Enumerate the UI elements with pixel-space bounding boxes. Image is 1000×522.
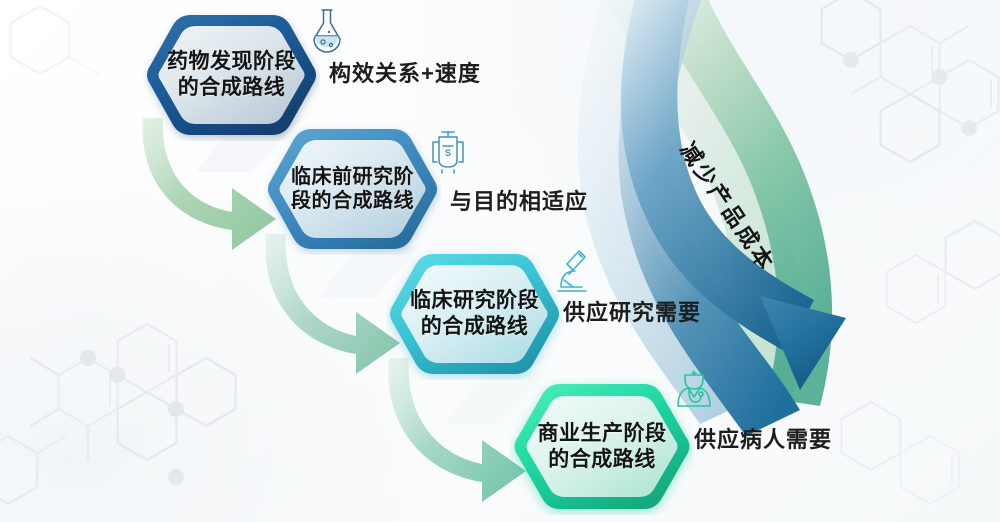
stage-caption-1: 构效关系+速度 bbox=[329, 56, 481, 88]
flask-icon bbox=[305, 6, 349, 56]
doctor-icon bbox=[670, 366, 718, 418]
svg-text:S: S bbox=[445, 148, 451, 158]
stage-caption-4: 供应病人需要 bbox=[694, 422, 832, 454]
stage-node-2[interactable]: 临床前研究阶 段的合成路线 bbox=[264, 123, 441, 255]
stage-caption-2: 与目的相适应 bbox=[450, 184, 588, 216]
stage-node-3[interactable]: 临床研究阶段 的合成路线 bbox=[386, 248, 563, 380]
stage-label-2: 临床前研究阶 段的合成路线 bbox=[291, 165, 414, 214]
ribbon-green-back bbox=[598, 0, 800, 400]
reactor-vessel-icon: S bbox=[426, 126, 470, 176]
microscope-icon bbox=[549, 247, 595, 297]
connector-arrow-2 bbox=[265, 234, 400, 374]
cost-reduction-label: 减少产品成本 bbox=[673, 135, 783, 277]
stage-caption-3: 供应研究需要 bbox=[563, 295, 701, 327]
infographic-canvas: 药物发现阶段 的合成路线 临床前研 bbox=[0, 0, 1000, 522]
stage-node-1[interactable]: 药物发现阶段 的合成路线 bbox=[143, 9, 320, 141]
stage-label-4: 商业生产阶段 的合成路线 bbox=[538, 421, 667, 472]
stage-label-3: 临床研究阶段 的合成路线 bbox=[410, 288, 539, 339]
stage-label-1: 药物发现阶段 的合成路线 bbox=[167, 49, 296, 100]
stage-node-4[interactable]: 商业生产阶段 的合成路线 bbox=[510, 378, 694, 515]
